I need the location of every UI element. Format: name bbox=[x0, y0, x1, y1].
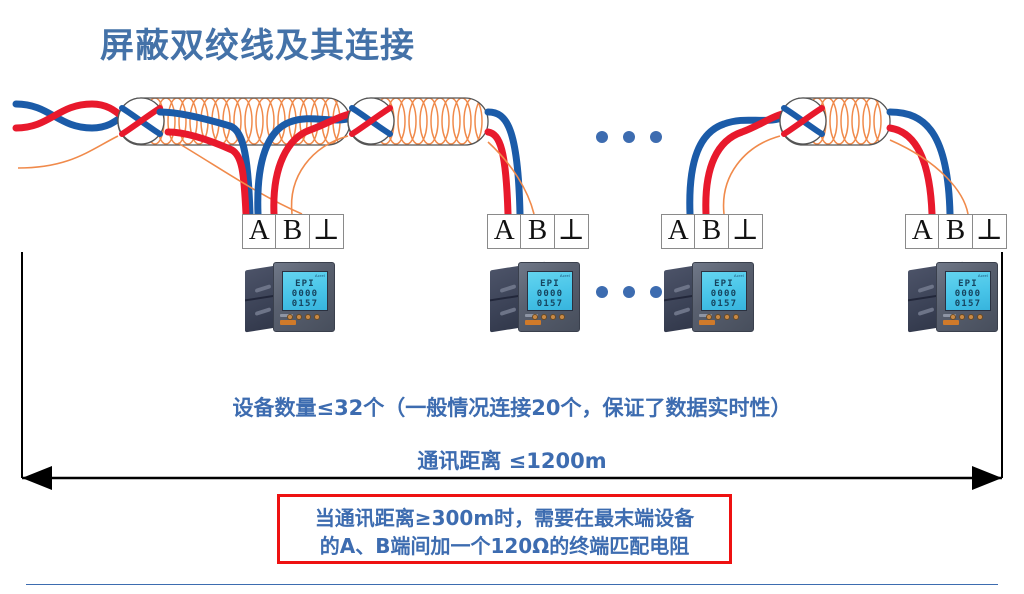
meter-brand-label: Acrel bbox=[734, 273, 744, 278]
meter-device-2: Acrel EPI 0000 0157 bbox=[488, 258, 584, 336]
meter-lcd-screen: Acrel EPI 0000 0157 bbox=[945, 271, 991, 311]
meter-clip-icon bbox=[918, 307, 934, 316]
terminal-cell-ground: ⊥ bbox=[973, 215, 1006, 248]
meter-clip-icon bbox=[674, 307, 690, 316]
meter-device-3: Acrel EPI 0000 0157 bbox=[662, 258, 758, 336]
terminal-cell-a: A bbox=[243, 215, 276, 248]
meter-lcd-line-1: EPI bbox=[702, 279, 746, 289]
meter-front-panel: Acrel EPI 0000 0157 bbox=[273, 262, 335, 332]
meter-button[interactable] bbox=[314, 314, 320, 320]
meter-lcd-line-3: 0157 bbox=[702, 299, 746, 309]
terminal-cell-b: B bbox=[695, 215, 728, 248]
meter-button[interactable] bbox=[559, 314, 565, 320]
ellipsis-dot bbox=[623, 131, 635, 143]
meter-button-row[interactable] bbox=[532, 314, 565, 320]
meter-label-strip bbox=[699, 320, 715, 325]
terminal-block-3: A B ⊥ bbox=[661, 214, 763, 249]
meter-lcd-line-2: 0000 bbox=[702, 289, 746, 299]
termination-resistor-warning-box: 当通讯距离≥300m时，需要在最末端设备 的A、B端间加一个120Ω的终端匹配电… bbox=[277, 494, 732, 564]
warning-line-2: 的A、B端间加一个120Ω的终端匹配电阻 bbox=[280, 532, 729, 560]
terminal-cell-b: B bbox=[939, 215, 972, 248]
terminal-cell-ground: ⊥ bbox=[555, 215, 588, 248]
meter-button[interactable] bbox=[959, 314, 965, 320]
ellipsis-cable-run bbox=[596, 131, 662, 143]
meter-lcd-line-1: EPI bbox=[283, 279, 327, 289]
ellipsis-dot bbox=[650, 131, 662, 143]
terminal-cell-ground: ⊥ bbox=[729, 215, 762, 248]
meter-clip-icon bbox=[500, 284, 516, 293]
warning-line-1: 当通讯距离≥300m时，需要在最末端设备 bbox=[280, 504, 729, 532]
meter-lcd-screen: Acrel EPI 0000 0157 bbox=[701, 271, 747, 311]
drop-wires-2 bbox=[488, 112, 534, 214]
ellipsis-dot bbox=[596, 131, 608, 143]
terminal-cell-ground: ⊥ bbox=[310, 215, 343, 248]
communication-distance-note: 通讯距离 ≤1200m bbox=[0, 445, 1024, 475]
meter-clip-icon bbox=[255, 284, 271, 293]
meter-label-strip bbox=[280, 320, 296, 325]
meter-button[interactable] bbox=[305, 314, 311, 320]
terminal-cell-a: A bbox=[662, 215, 695, 248]
meter-button[interactable] bbox=[724, 314, 730, 320]
terminal-cell-b: B bbox=[276, 215, 309, 248]
terminal-cell-a: A bbox=[488, 215, 521, 248]
ellipsis-dot bbox=[650, 286, 662, 298]
meter-button[interactable] bbox=[287, 314, 293, 320]
meter-lcd-line-1: EPI bbox=[528, 279, 572, 289]
meter-device-4: Acrel EPI 0000 0157 bbox=[906, 258, 1002, 336]
meter-button[interactable] bbox=[968, 314, 974, 320]
ellipsis-device-run bbox=[596, 286, 662, 298]
meter-clip-icon bbox=[674, 284, 690, 293]
ellipsis-dot bbox=[596, 286, 608, 298]
terminal-cell-a: A bbox=[906, 215, 939, 248]
meter-button[interactable] bbox=[541, 314, 547, 320]
meter-lcd-line-3: 0157 bbox=[283, 299, 327, 309]
meter-brand-label: Acrel bbox=[560, 273, 570, 278]
meter-brand-label: Acrel bbox=[315, 273, 325, 278]
meter-button-row[interactable] bbox=[706, 314, 739, 320]
meter-button[interactable] bbox=[733, 314, 739, 320]
meter-lcd-line-3: 0157 bbox=[528, 299, 572, 309]
meter-button[interactable] bbox=[715, 314, 721, 320]
slide-canvas: 屏蔽双绞线及其连接 bbox=[0, 0, 1024, 594]
meter-device-1: Acrel EPI 0000 0157 bbox=[243, 258, 339, 336]
drop-wires-4 bbox=[890, 112, 968, 214]
meter-lcd-screen: Acrel EPI 0000 0157 bbox=[282, 271, 328, 311]
meter-button[interactable] bbox=[296, 314, 302, 320]
terminal-block-4: A B ⊥ bbox=[905, 214, 1007, 249]
meter-button[interactable] bbox=[977, 314, 983, 320]
meter-label-strip bbox=[525, 320, 541, 325]
meter-front-panel: Acrel EPI 0000 0157 bbox=[518, 262, 580, 332]
meter-button-row[interactable] bbox=[287, 314, 320, 320]
meter-button-row[interactable] bbox=[950, 314, 983, 320]
device-count-note: 设备数量≤32个（一般情况连接20个，保证了数据实时性） bbox=[0, 392, 1024, 422]
shield-braid-2 bbox=[348, 98, 493, 145]
footer-divider bbox=[26, 584, 998, 585]
meter-clip-icon bbox=[918, 284, 934, 293]
meter-lcd-line-2: 0000 bbox=[528, 289, 572, 299]
shield-braid-3 bbox=[780, 98, 892, 145]
meter-button[interactable] bbox=[532, 314, 538, 320]
terminal-block-1: A B ⊥ bbox=[242, 214, 344, 249]
meter-front-panel: Acrel EPI 0000 0157 bbox=[936, 262, 998, 332]
meter-button[interactable] bbox=[706, 314, 712, 320]
terminal-block-2: A B ⊥ bbox=[487, 214, 589, 249]
meter-clip-icon bbox=[255, 307, 271, 316]
terminal-cell-b: B bbox=[521, 215, 554, 248]
meter-label-strip bbox=[943, 320, 959, 325]
meter-lcd-screen: Acrel EPI 0000 0157 bbox=[527, 271, 573, 311]
meter-front-panel: Acrel EPI 0000 0157 bbox=[692, 262, 754, 332]
meter-brand-label: Acrel bbox=[978, 273, 988, 278]
meter-lcd-line-1: EPI bbox=[946, 279, 990, 289]
meter-lcd-line-2: 0000 bbox=[946, 289, 990, 299]
meter-clip-icon bbox=[500, 307, 516, 316]
meter-lcd-line-3: 0157 bbox=[946, 299, 990, 309]
meter-button[interactable] bbox=[950, 314, 956, 320]
ellipsis-dot bbox=[623, 286, 635, 298]
meter-lcd-line-2: 0000 bbox=[283, 289, 327, 299]
meter-button[interactable] bbox=[550, 314, 556, 320]
